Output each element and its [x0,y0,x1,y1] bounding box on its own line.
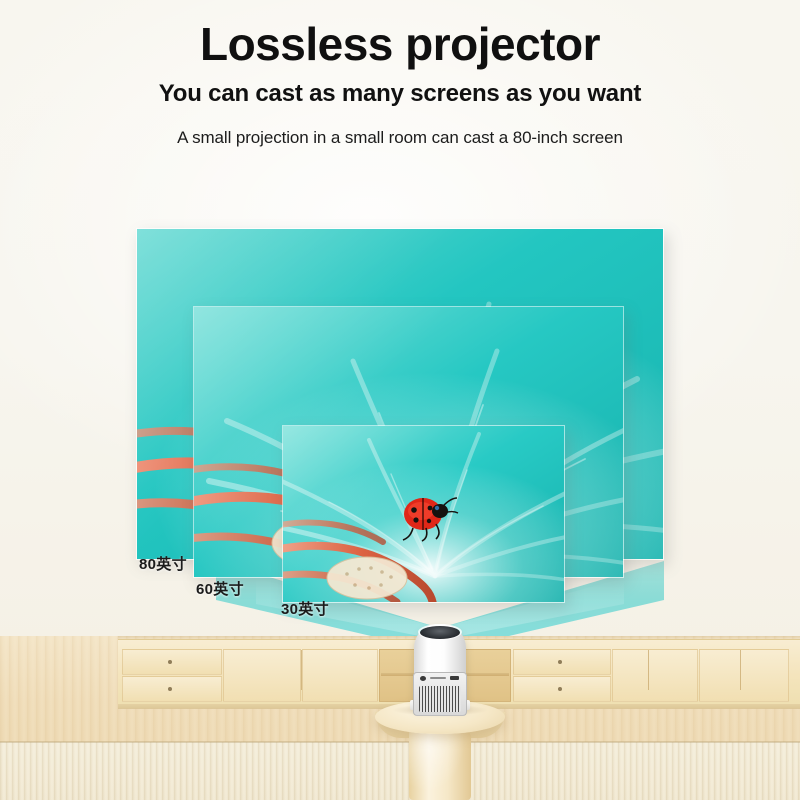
projector-lens-icon [420,626,460,639]
sideboard-drawer-2 [122,676,222,702]
sideboard-door-2 [302,649,378,702]
sideboard-drawer-1 [122,649,222,675]
rug-edge [0,741,800,743]
page-title: Lossless projector [0,20,800,68]
projector-port-icon [450,676,459,680]
drawer-knob-1 [168,660,172,664]
projected-screen-30inch[interactable] [282,425,565,603]
drawer-knob-2 [168,687,172,691]
sideboard-drawer-3 [513,649,611,675]
projector-indicator-led [420,676,426,681]
screen-size-label-30inch: 30英寸 [281,598,329,619]
rug-weave-texture [0,742,800,800]
page-subtitle: You can cast as many screens as you want [0,80,800,108]
projector-speaker-grille [419,686,461,712]
sideboard-door-3 [612,649,698,702]
screen-size-label-60inch: 60英寸 [196,578,244,599]
page-tagline: A small projection in a small room can c… [0,128,800,148]
screen-size-label-80inch: 80英寸 [139,553,187,574]
drawer-knob-3 [558,660,562,664]
drawer-knob-4 [558,687,562,691]
sideboard-door-1 [223,649,301,702]
side-table-pedestal-highlight [409,728,471,800]
product-banner: 80英寸 60英寸 30英寸 Lossless projector [0,0,800,800]
shelf-divider-right [465,673,509,676]
sideboard-door-4 [699,649,789,702]
sideboard-seam-2 [648,650,649,690]
projector-label-strip [430,677,446,679]
sideboard-drawer-4 [513,676,611,702]
screen-gloss-30inch [283,426,564,602]
sideboard-seam-3 [740,650,741,690]
